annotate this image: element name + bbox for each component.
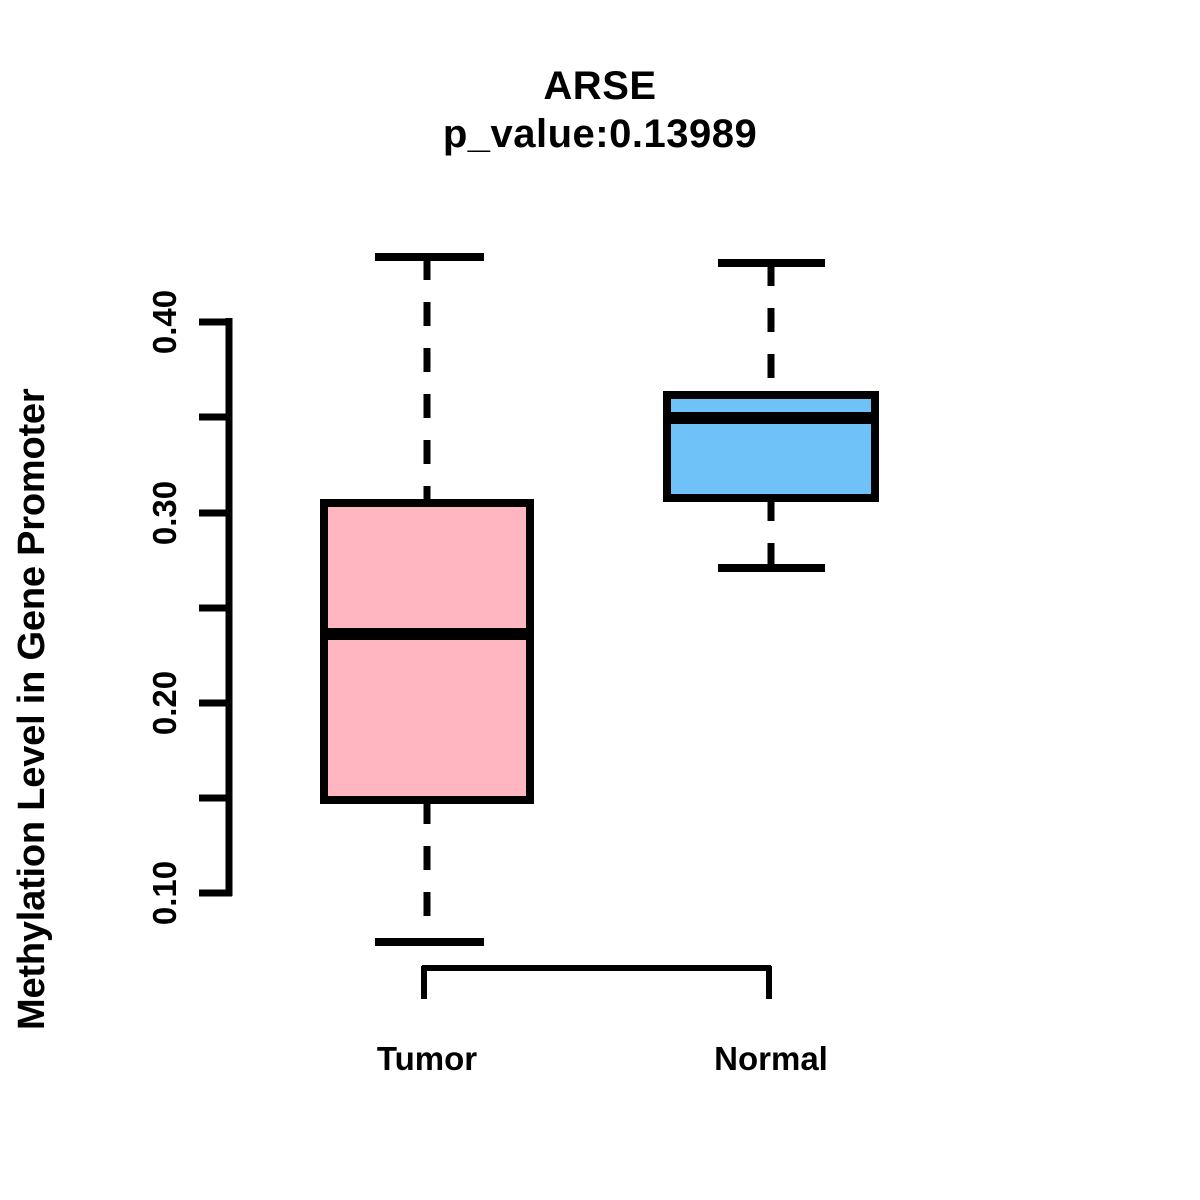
y-axis — [199, 318, 232, 896]
x-axis — [422, 966, 771, 999]
tumor-box-rect — [324, 503, 530, 800]
y-tick-label-0.20: 0.20 — [146, 648, 190, 758]
x-tick-label-normal: Normal — [651, 1040, 891, 1078]
plot-canvas — [0, 0, 1200, 1200]
normal-box-rect — [667, 395, 875, 498]
box-tumor — [322, 256, 532, 942]
y-tick-label-0.30: 0.30 — [146, 458, 190, 568]
box-normal — [665, 262, 877, 568]
boxplot-figure: ARSE p_value:0.13989 Methylation Level i… — [0, 0, 1200, 1200]
y-tick-label-0.40: 0.40 — [146, 267, 190, 377]
x-tick-label-tumor: Tumor — [307, 1040, 547, 1078]
y-tick-label-0.10: 0.10 — [146, 838, 190, 948]
